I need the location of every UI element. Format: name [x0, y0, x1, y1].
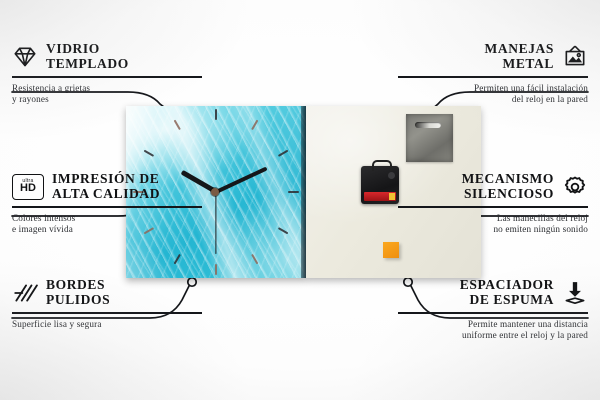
title-line-2: PULIDOS [46, 293, 110, 308]
desc-line-1: Superficie lisa y segura [12, 319, 202, 331]
clock-tick [215, 109, 217, 120]
callout-description: Permiten una fácil instalación del reloj… [398, 83, 588, 106]
foam-spacer [383, 242, 399, 258]
callout-header: BORDES PULIDOS [12, 278, 202, 307]
diamond-icon [12, 44, 38, 70]
callout-manejas-metal: MANEJAS METAL Permiten una fácil instala… [398, 42, 588, 106]
callout-title: VIDRIO TEMPLADO [46, 42, 129, 71]
callout-description: Colores intensos e imagen vívida [12, 213, 202, 236]
divider [398, 312, 588, 314]
callout-header: ESPACIADOR DE ESPUMA [398, 278, 588, 307]
title-line-1: BORDES [46, 277, 105, 292]
ultra-hd-icon-main-text: HD [20, 183, 36, 194]
hanging-frame-icon [562, 44, 588, 70]
callout-title: MECANISMO SILENCIOSO [462, 172, 554, 201]
hanger-keyhole-slot [415, 122, 441, 128]
callout-header: MECANISMO SILENCIOSO [398, 172, 588, 201]
desc-line-1: Colores intensos [12, 213, 202, 225]
mechanism-dial [388, 172, 395, 179]
ultra-hd-icon: ultra HD [12, 174, 44, 200]
callout-title: BORDES PULIDOS [46, 278, 110, 307]
callout-header: MANEJAS METAL [398, 42, 588, 71]
desc-line-2: e imagen vívida [12, 224, 202, 236]
callout-espaciador-espuma: ESPACIADOR DE ESPUMA Permite mantener un… [398, 278, 588, 342]
callout-mecanismo-silencioso: MECANISMO SILENCIOSO Las manecillas del … [398, 172, 588, 236]
title-line-2: TEMPLADO [46, 57, 129, 72]
desc-line-2: no emiten ningún sonido [398, 224, 588, 236]
callout-header: VIDRIO TEMPLADO [12, 42, 202, 71]
mechanism-hook [372, 160, 392, 171]
title-line-2: ALTA CALIDAD [52, 187, 160, 202]
polished-edges-icon [12, 280, 38, 306]
divider [12, 206, 202, 208]
title-line-1: MECANISMO [462, 171, 554, 186]
title-line-2: METAL [485, 57, 554, 72]
divider [12, 312, 202, 314]
desc-line-1: Las manecillas del reloj [398, 213, 588, 225]
callout-description: Superficie lisa y segura [12, 319, 202, 331]
callout-description: Las manecillas del reloj no emiten ningú… [398, 213, 588, 236]
callout-impresion-alta-calidad: ultra HD IMPRESIÓN DE ALTA CALIDAD Color… [12, 172, 202, 236]
callout-vidrio-templado: VIDRIO TEMPLADO Resistencia a grietas y … [12, 42, 202, 106]
divider [398, 76, 588, 78]
title-line-1: MANEJAS [485, 41, 554, 56]
desc-line-2: uniforme entre el reloj y la pared [398, 330, 588, 342]
infographic-canvas: VIDRIO TEMPLADO Resistencia a grietas y … [0, 0, 600, 400]
callout-header: ultra HD IMPRESIÓN DE ALTA CALIDAD [12, 172, 202, 201]
callout-title: IMPRESIÓN DE ALTA CALIDAD [52, 172, 160, 201]
clock-center-hub [211, 188, 219, 196]
gear-icon [562, 174, 588, 200]
divider [398, 206, 588, 208]
desc-line-2: y rayones [12, 94, 202, 106]
title-line-1: VIDRIO [46, 41, 100, 56]
title-line-2: DE ESPUMA [460, 293, 554, 308]
metal-hanger-plate [406, 114, 453, 162]
desc-line-1: Permiten una fácil instalación [398, 83, 588, 95]
callout-title: MANEJAS METAL [485, 42, 554, 71]
title-line-1: ESPACIADOR [460, 277, 554, 292]
down-arrow-spacer-icon [562, 280, 588, 306]
title-line-2: SILENCIOSO [462, 187, 554, 202]
clock-tick [288, 191, 299, 193]
desc-line-2: del reloj en la pared [398, 94, 588, 106]
title-line-1: IMPRESIÓN DE [52, 171, 159, 186]
callout-bordes-pulidos: BORDES PULIDOS Superficie lisa y segura [12, 278, 202, 330]
clock-tick [215, 264, 217, 275]
clock-mechanism [361, 166, 399, 204]
desc-line-1: Permite mantener una distancia [398, 319, 588, 331]
callout-description: Resistencia a grietas y rayones [12, 83, 202, 106]
desc-line-1: Resistencia a grietas [12, 83, 202, 95]
divider [12, 76, 202, 78]
callout-description: Permite mantener una distancia uniforme … [398, 319, 588, 342]
battery [364, 192, 396, 201]
callout-title: ESPACIADOR DE ESPUMA [460, 278, 554, 307]
